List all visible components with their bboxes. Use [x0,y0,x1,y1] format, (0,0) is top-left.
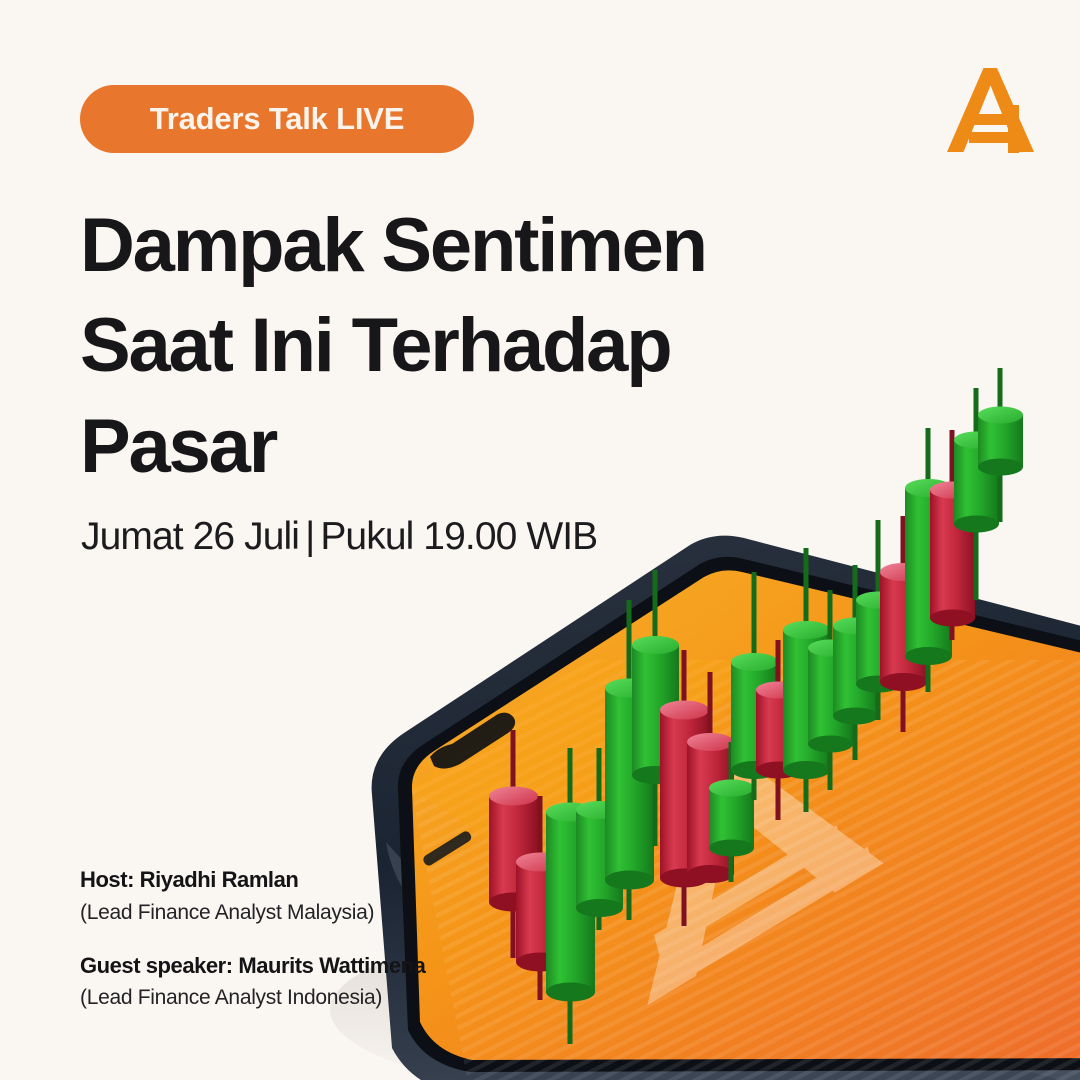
live-badge[interactable]: Traders Talk LIVE [80,85,474,153]
live-badge-label: Traders Talk LIVE [150,101,404,137]
page-title: Dampak Sentimen Saat Ini Terhadap Pasar [80,196,800,497]
speaker-credits: Host: Riyadhi Ramlan (Lead Finance Analy… [80,866,425,1012]
host-role: (Lead Finance Analyst Malaysia) [80,899,425,926]
credit-guest-speaker: Guest speaker: Maurits Wattimena (Lead F… [80,952,425,1012]
credit-host: Host: Riyadhi Ramlan (Lead Finance Analy… [80,866,425,926]
page-title-line-1: Dampak Sentimen [80,196,800,296]
page-title-line-2: Saat Ini Terhadap [80,296,800,396]
host-name: Host: Riyadhi Ramlan [80,866,425,894]
guest-speaker-name: Guest speaker: Maurits Wattimena [80,952,425,980]
page-title-line-3: Pasar [80,397,800,497]
guest-speaker-role: (Lead Finance Analyst Indonesia) [80,984,425,1011]
event-date: Jumat 26 Juli [81,515,299,558]
poster-canvas: Traders Talk LIVE Dampak Sentimen Saat I… [0,0,1080,1080]
event-schedule: Jumat 26 Juli|Pukul 19.00 WIB [81,515,597,559]
schedule-separator: | [299,515,320,558]
event-time: Pukul 19.00 WIB [320,515,597,558]
